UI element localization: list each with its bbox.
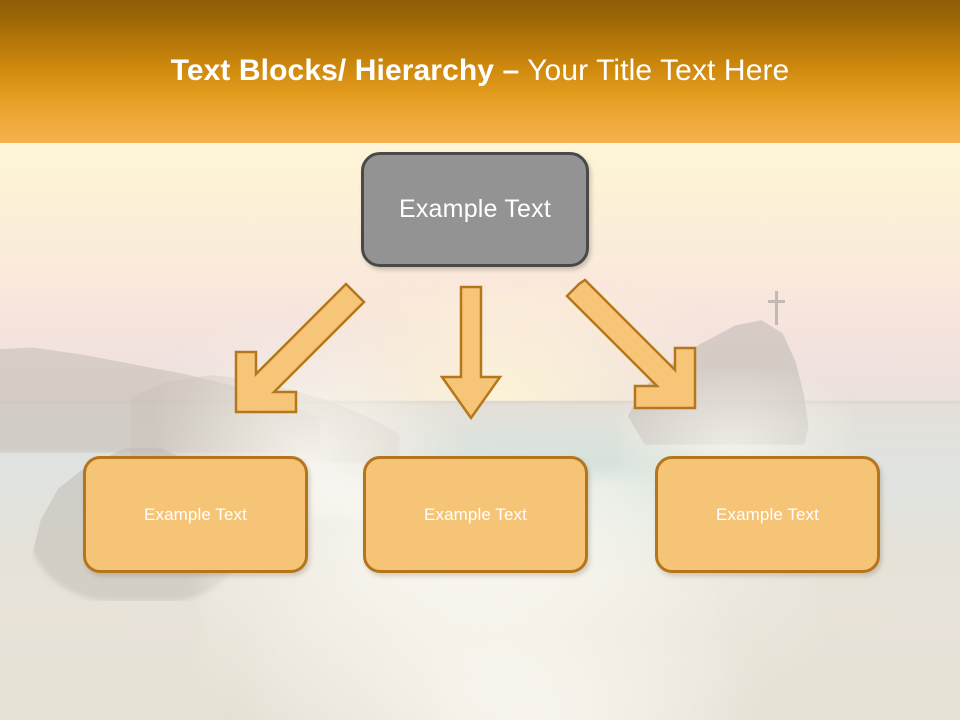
page-title: Text Blocks/ Hierarchy – Your Title Text… — [0, 53, 960, 89]
wave-foam-tertiary — [430, 643, 760, 720]
slide: Text Blocks/ Hierarchy – Your Title Text… — [0, 0, 960, 720]
hierarchy-child-box-1[interactable]: Example Text — [83, 456, 308, 573]
arrow-down-right-icon — [563, 282, 703, 422]
hierarchy-child-box-3[interactable]: Example Text — [655, 456, 880, 573]
arrow-down-icon — [440, 285, 502, 421]
page-title-bold: Text Blocks/ Hierarchy – — [171, 54, 520, 87]
cross-icon — [766, 291, 788, 325]
arrow-down-left-icon — [228, 282, 368, 422]
hierarchy-root-box[interactable]: Example Text — [361, 152, 589, 267]
page-title-light: Your Title Text Here — [519, 54, 789, 87]
cross-vertical-bar — [775, 291, 778, 325]
cross-horizontal-bar — [768, 300, 785, 303]
header-bar: Text Blocks/ Hierarchy – Your Title Text… — [0, 0, 960, 143]
hierarchy-child-box-2[interactable]: Example Text — [363, 456, 588, 573]
